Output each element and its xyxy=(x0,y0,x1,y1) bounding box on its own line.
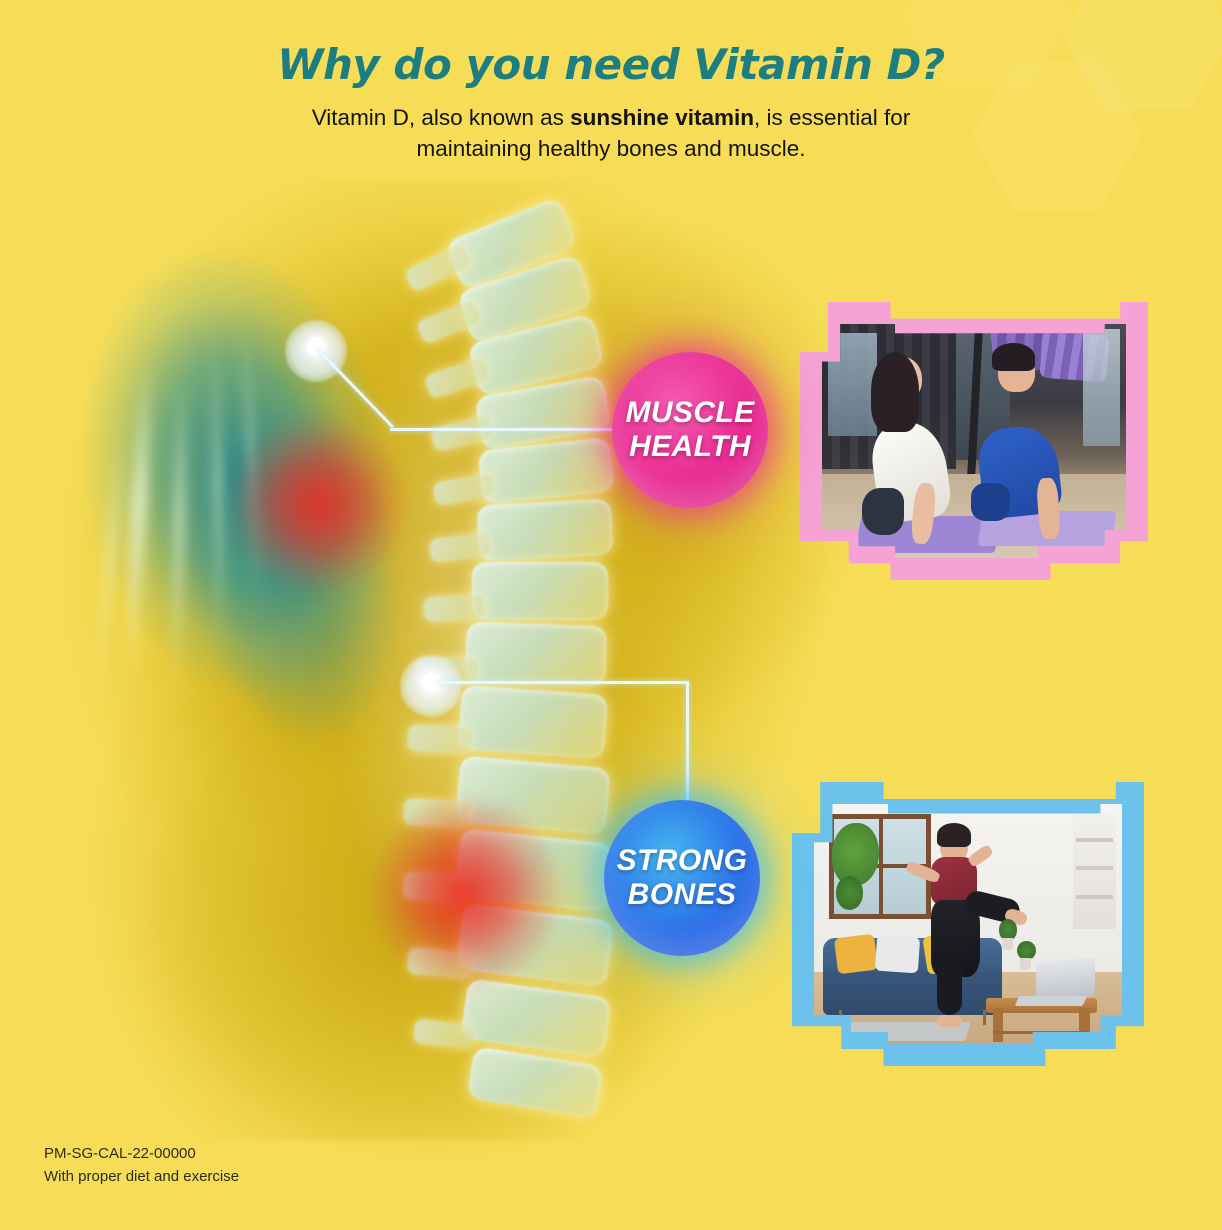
page-subtitle: Vitamin D, also known as sunshine vitami… xyxy=(261,103,961,164)
header: Why do you need Vitamin D? Vitamin D, al… xyxy=(0,0,1222,164)
badge-label-line1: MUSCLE xyxy=(625,396,754,430)
photo-card-home-workout[interactable] xyxy=(792,782,1144,1066)
photo-yoga-couple xyxy=(822,324,1126,558)
subtitle-emphasis: sunshine vitamin xyxy=(570,105,754,130)
connector-line-horizontal xyxy=(390,428,628,431)
badge-label-line1: STRONG xyxy=(617,844,748,878)
footer-code: PM-SG-CAL-22-00000 xyxy=(44,1142,239,1165)
hotspot-muscle xyxy=(232,418,404,590)
footer-note: With proper diet and exercise xyxy=(44,1165,239,1188)
hotspot-bone xyxy=(372,800,558,986)
photo-card-yoga-couple[interactable] xyxy=(800,302,1148,580)
badge-label-line2: BONES xyxy=(617,878,748,912)
badge-label-line2: HEALTH xyxy=(625,430,754,464)
callout-badge-muscle-health[interactable]: MUSCLE HEALTH xyxy=(612,352,768,508)
subtitle-text-before: Vitamin D, also known as xyxy=(312,105,570,130)
callout-badge-strong-bones[interactable]: STRONG BONES xyxy=(604,800,760,956)
photo-home-workout xyxy=(814,804,1122,1044)
spine-column xyxy=(300,160,720,1150)
connector-line-horizontal xyxy=(438,681,688,684)
page-title: Why do you need Vitamin D? xyxy=(0,0,1222,89)
footer: PM-SG-CAL-22-00000 With proper diet and … xyxy=(44,1142,239,1189)
